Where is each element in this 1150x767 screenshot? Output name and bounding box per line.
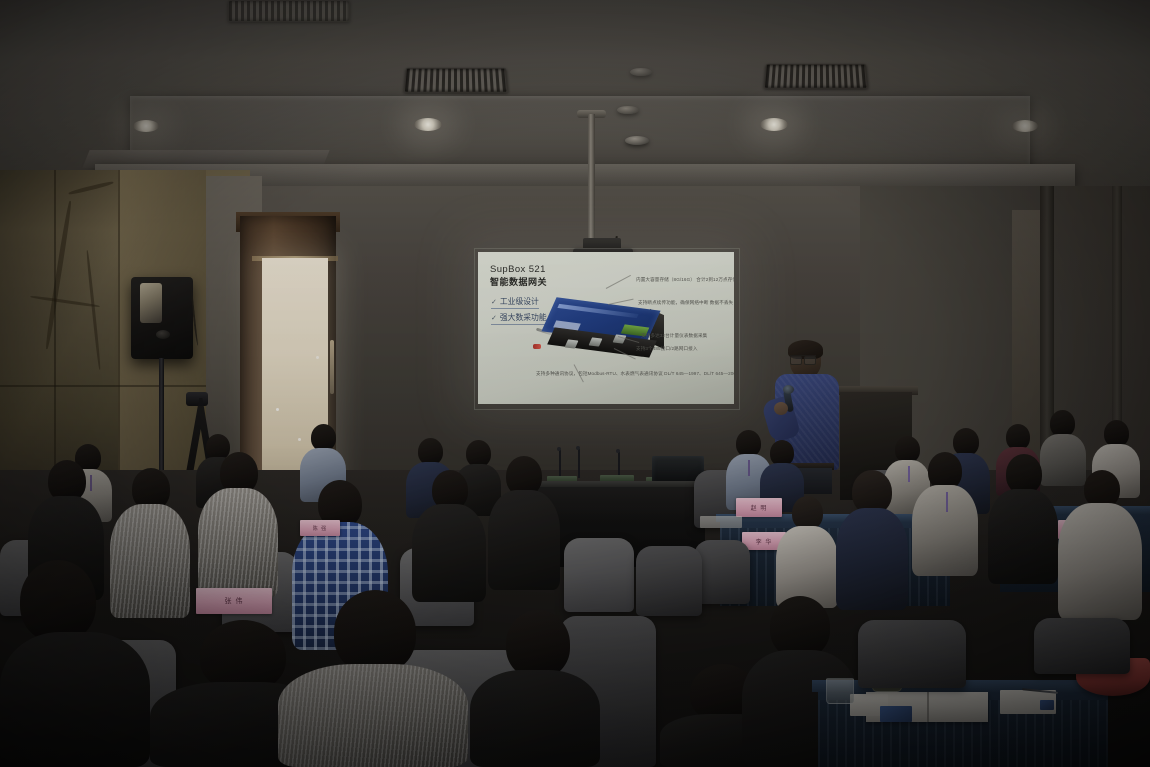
microphone-stand <box>578 449 580 478</box>
audience-member <box>412 470 486 602</box>
audience-member <box>470 610 600 767</box>
callout-line <box>606 275 631 289</box>
microphone-stand <box>618 452 620 477</box>
person-head <box>1104 420 1129 447</box>
person-torso <box>1058 503 1142 620</box>
speaker-horn <box>140 283 162 323</box>
microphone-head-icon <box>783 385 794 394</box>
name-card: 张 伟 <box>196 588 272 614</box>
person-head <box>1050 410 1075 437</box>
marble-seam <box>54 170 56 500</box>
callout-network-text: 支持断点续传功能，确保网络中断 数据不丢失 <box>638 299 733 306</box>
smoke-detector-icon <box>630 68 652 76</box>
check-icon: ✓ <box>491 315 497 322</box>
air-vent-icon <box>404 68 508 93</box>
audience-member <box>198 452 278 598</box>
slide-bullet-1: ✓工业级设计 <box>491 296 539 309</box>
recessed-downlight-icon <box>414 118 442 131</box>
audience-member <box>776 496 838 608</box>
projector-pole <box>588 114 595 242</box>
smoke-detector-icon <box>625 136 649 145</box>
person-torso <box>470 670 600 767</box>
projection-screen: SupBox 521 智能数据网关 ✓工业级设计 ✓强大数采功能 <box>478 252 734 404</box>
lanyard <box>946 492 948 512</box>
audience-member <box>488 456 560 590</box>
microphone-icon <box>576 446 580 450</box>
presenter-hand <box>774 402 788 415</box>
callout-ports-text: 支持3个485接口/2路网口接入 <box>636 345 698 352</box>
microphone-icon <box>557 447 561 451</box>
air-vent-icon <box>764 64 868 89</box>
person-head <box>1006 454 1042 494</box>
marble-seam <box>118 170 120 500</box>
callout-storage-text: 内置大容量存储（8G/16G） 合计2到12万点存储数据 <box>636 276 734 283</box>
slide-product-subtitle: 智能数据网关 <box>490 275 547 288</box>
chair[interactable] <box>858 620 966 688</box>
audience-member <box>278 590 468 767</box>
audience-member <box>836 470 908 610</box>
person-head <box>770 596 830 658</box>
person-torso <box>988 489 1058 584</box>
recessed-downlight-icon <box>1012 120 1038 132</box>
air-vent-icon <box>228 0 350 22</box>
antenna-connector-icon <box>533 344 541 349</box>
tripod-head <box>186 392 208 406</box>
audience-member <box>912 452 978 576</box>
slide-bullet-1-label: 工业级设计 <box>500 297 539 306</box>
smoke-detector-icon <box>617 106 639 114</box>
check-icon: ✓ <box>491 299 497 306</box>
person-torso <box>198 488 278 598</box>
callout-protocols-text: 支持多种通讯协议，包括Modbus-RTU、水表燃气表通讯协议 DL/T 645… <box>536 370 734 377</box>
blue-card <box>1040 700 1054 710</box>
person-head <box>311 424 336 451</box>
person-torso <box>488 490 560 590</box>
chair[interactable] <box>636 546 702 616</box>
person-head <box>20 560 96 642</box>
person-head <box>736 430 761 457</box>
audience-member <box>988 454 1058 584</box>
microphone-icon <box>616 449 620 453</box>
person-head <box>334 590 416 674</box>
audience-member <box>1058 470 1142 620</box>
person-torso <box>836 508 908 610</box>
chair[interactable] <box>564 538 634 612</box>
recessed-downlight-icon <box>760 118 788 131</box>
chair[interactable] <box>694 540 750 604</box>
paper-sheet <box>700 516 742 528</box>
blue-card <box>880 706 912 722</box>
audience-member <box>0 560 150 767</box>
person-torso <box>912 485 978 576</box>
person-torso <box>278 664 468 767</box>
callout-meters-text: 支持多达32台计量仪表数据采集 <box>641 332 707 339</box>
person-torso <box>412 504 486 602</box>
name-card: 陈 强 <box>300 520 340 536</box>
glasses-icon <box>790 355 816 363</box>
person-head <box>418 438 443 465</box>
lanyard <box>908 466 910 482</box>
speaker-driver-icon <box>156 330 170 339</box>
lanyard <box>748 460 750 476</box>
speaker-stand-pole <box>159 358 164 482</box>
recessed-downlight-icon <box>133 120 159 132</box>
slide-content: SupBox 521 智能数据网关 ✓工业级设计 ✓强大数采功能 <box>478 252 734 404</box>
person-head <box>792 496 823 530</box>
person-torso <box>0 632 150 767</box>
door-handle[interactable] <box>330 340 334 394</box>
glass-cup <box>826 678 854 704</box>
person-head <box>506 610 570 678</box>
conference-room-photo: SupBox 521 智能数据网关 ✓工业级设计 ✓强大数采功能 <box>0 0 1150 767</box>
chair[interactable] <box>1034 618 1130 674</box>
